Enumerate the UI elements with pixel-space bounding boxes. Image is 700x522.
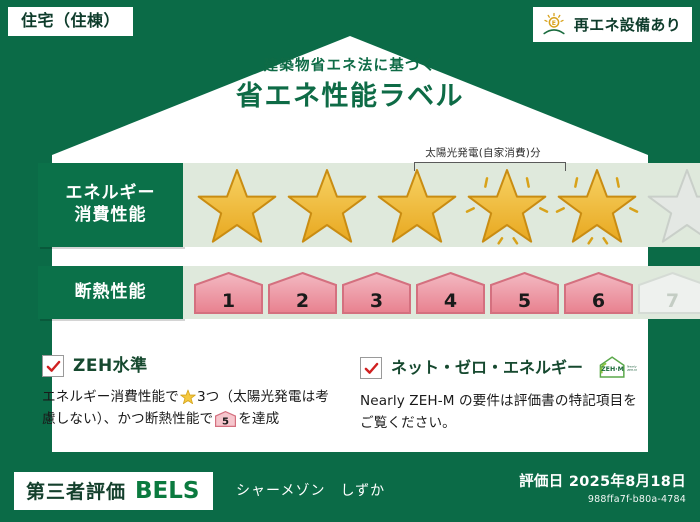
star-2 [283,165,371,245]
bels-en-label: BELS [135,478,199,504]
insulation-level-gauge: 1 2 3 4 [183,266,700,319]
house-type-chip: 住宅（住棟） [8,7,133,36]
renewable-equipment-badge: E 再エネ設備あり [533,7,692,42]
insulation-level-7-number: 7 [637,292,700,311]
star-3 [373,165,461,245]
house-type-label: 住宅（住棟） [21,11,120,30]
insulation-level-1-number: 1 [193,292,264,311]
label-title-block: 建築物省エネ法に基づく 省エネ性能ラベル [0,58,700,112]
insulation-performance-row: 断熱性能 1 2 [38,266,660,319]
label-main-title: 省エネ性能ラベル [0,81,700,112]
sun-renewable-icon: E [541,12,567,36]
zeh-body-part4: を達成 [238,411,279,427]
building-name: シャーメゾン しずか [236,480,385,500]
mini-star-icon [180,389,196,405]
bels-energy-label: 住宅（住棟） E 再エネ設備あり 建築物省エネ法に基づく 省エネ性能ラベル [0,0,700,522]
star-1 [193,165,281,245]
insulation-level-4-number: 4 [415,292,486,311]
bels-jp-label: 第三者評価 [26,477,126,504]
evaluation-meta: 評価日 2025年8月18日 988ffa7f-b80a-4784 [519,470,686,505]
insulation-caption-label: 断熱性能 [75,282,147,304]
star-4-solar [463,165,551,245]
renewable-badge-label: 再エネ設備あり [574,14,681,35]
solar-annotation-bracket [414,162,566,171]
insulation-level-2: 2 [267,271,338,315]
mini-house-level-icon: 5 [215,411,236,427]
insulation-level-3-number: 3 [341,292,412,311]
net-zero-body: Nearly ZEH-M の要件は評価書の特記項目をご覧ください。 [360,390,650,434]
zeh-standard-body: エネルギー消費性能で 3つ（太陽光発電は考慮しない）、かつ断熱性能で 5 を達成 [42,386,332,430]
zeh-body-part1: エネルギー消費性能で [42,389,179,405]
energy-caption-line2: 消費性能 [66,205,156,227]
svg-text:5: 5 [222,416,229,427]
zeh-m-logo-icon: ZEH·M Nearly ZEH-M [596,355,640,381]
insulation-level-3: 3 [341,271,412,315]
energy-performance-row: エネルギー 消費性能 [38,163,660,247]
solar-annotation-label: 太陽光発電(自家消費)分 [398,148,568,160]
net-zero-header: ネット・ゼロ・エネルギー ZEH·M Nearly ZEH-M [360,355,650,381]
insulation-level-2-number: 2 [267,292,338,311]
zeh-checkbox[interactable] [42,355,64,377]
zeh-body-star-count: 3つ [197,389,219,405]
energy-caption-line1: エネルギー [66,183,156,205]
check-icon [364,361,379,376]
star-rating [183,165,700,245]
svg-text:E: E [552,20,557,27]
evaluation-date: 評価日 2025年8月18日 [519,470,686,491]
zeh-standard-block: ZEH水準 エネルギー消費性能で 3つ（太陽光発電は考慮しない）、かつ断熱性能で… [42,355,332,430]
star-6-empty [643,165,700,245]
zeh-standard-header: ZEH水準 [42,355,332,377]
bels-certification-chip: 第三者評価 BELS [14,472,213,510]
insulation-level-6: 6 [563,271,634,315]
insulation-level-6-number: 6 [563,292,634,311]
insulation-performance-caption: 断熱性能 [38,266,183,319]
insulation-level-list: 1 2 3 4 [183,271,700,315]
insulation-level-7: 7 [637,271,700,315]
net-zero-checkbox[interactable] [360,357,382,379]
energy-performance-caption: エネルギー 消費性能 [38,163,183,247]
insulation-level-1: 1 [193,271,264,315]
zeh-body-part2: （太陽光発電 [219,389,301,405]
label-footer: 第三者評価 BELS シャーメゾン しずか 評価日 2025年8月18日 988… [0,462,700,522]
svg-text:ZEH·M: ZEH·M [601,366,624,373]
evaluation-id: 988ffa7f-b80a-4784 [519,494,686,505]
label-subtitle: 建築物省エネ法に基づく [0,58,700,75]
energy-star-gauge [183,163,700,247]
insulation-level-5: 5 [489,271,560,315]
svg-text:ZEH-M: ZEH-M [627,368,637,372]
insulation-level-5-number: 5 [489,292,560,311]
net-zero-energy-block: ネット・ゼロ・エネルギー ZEH·M Nearly ZEH-M Nearly Z… [360,355,650,434]
insulation-level-4: 4 [415,271,486,315]
check-icon [46,359,61,374]
net-zero-title: ネット・ゼロ・エネルギー [391,359,583,377]
star-5-solar [553,165,641,245]
zeh-standard-title: ZEH水準 [73,357,148,376]
